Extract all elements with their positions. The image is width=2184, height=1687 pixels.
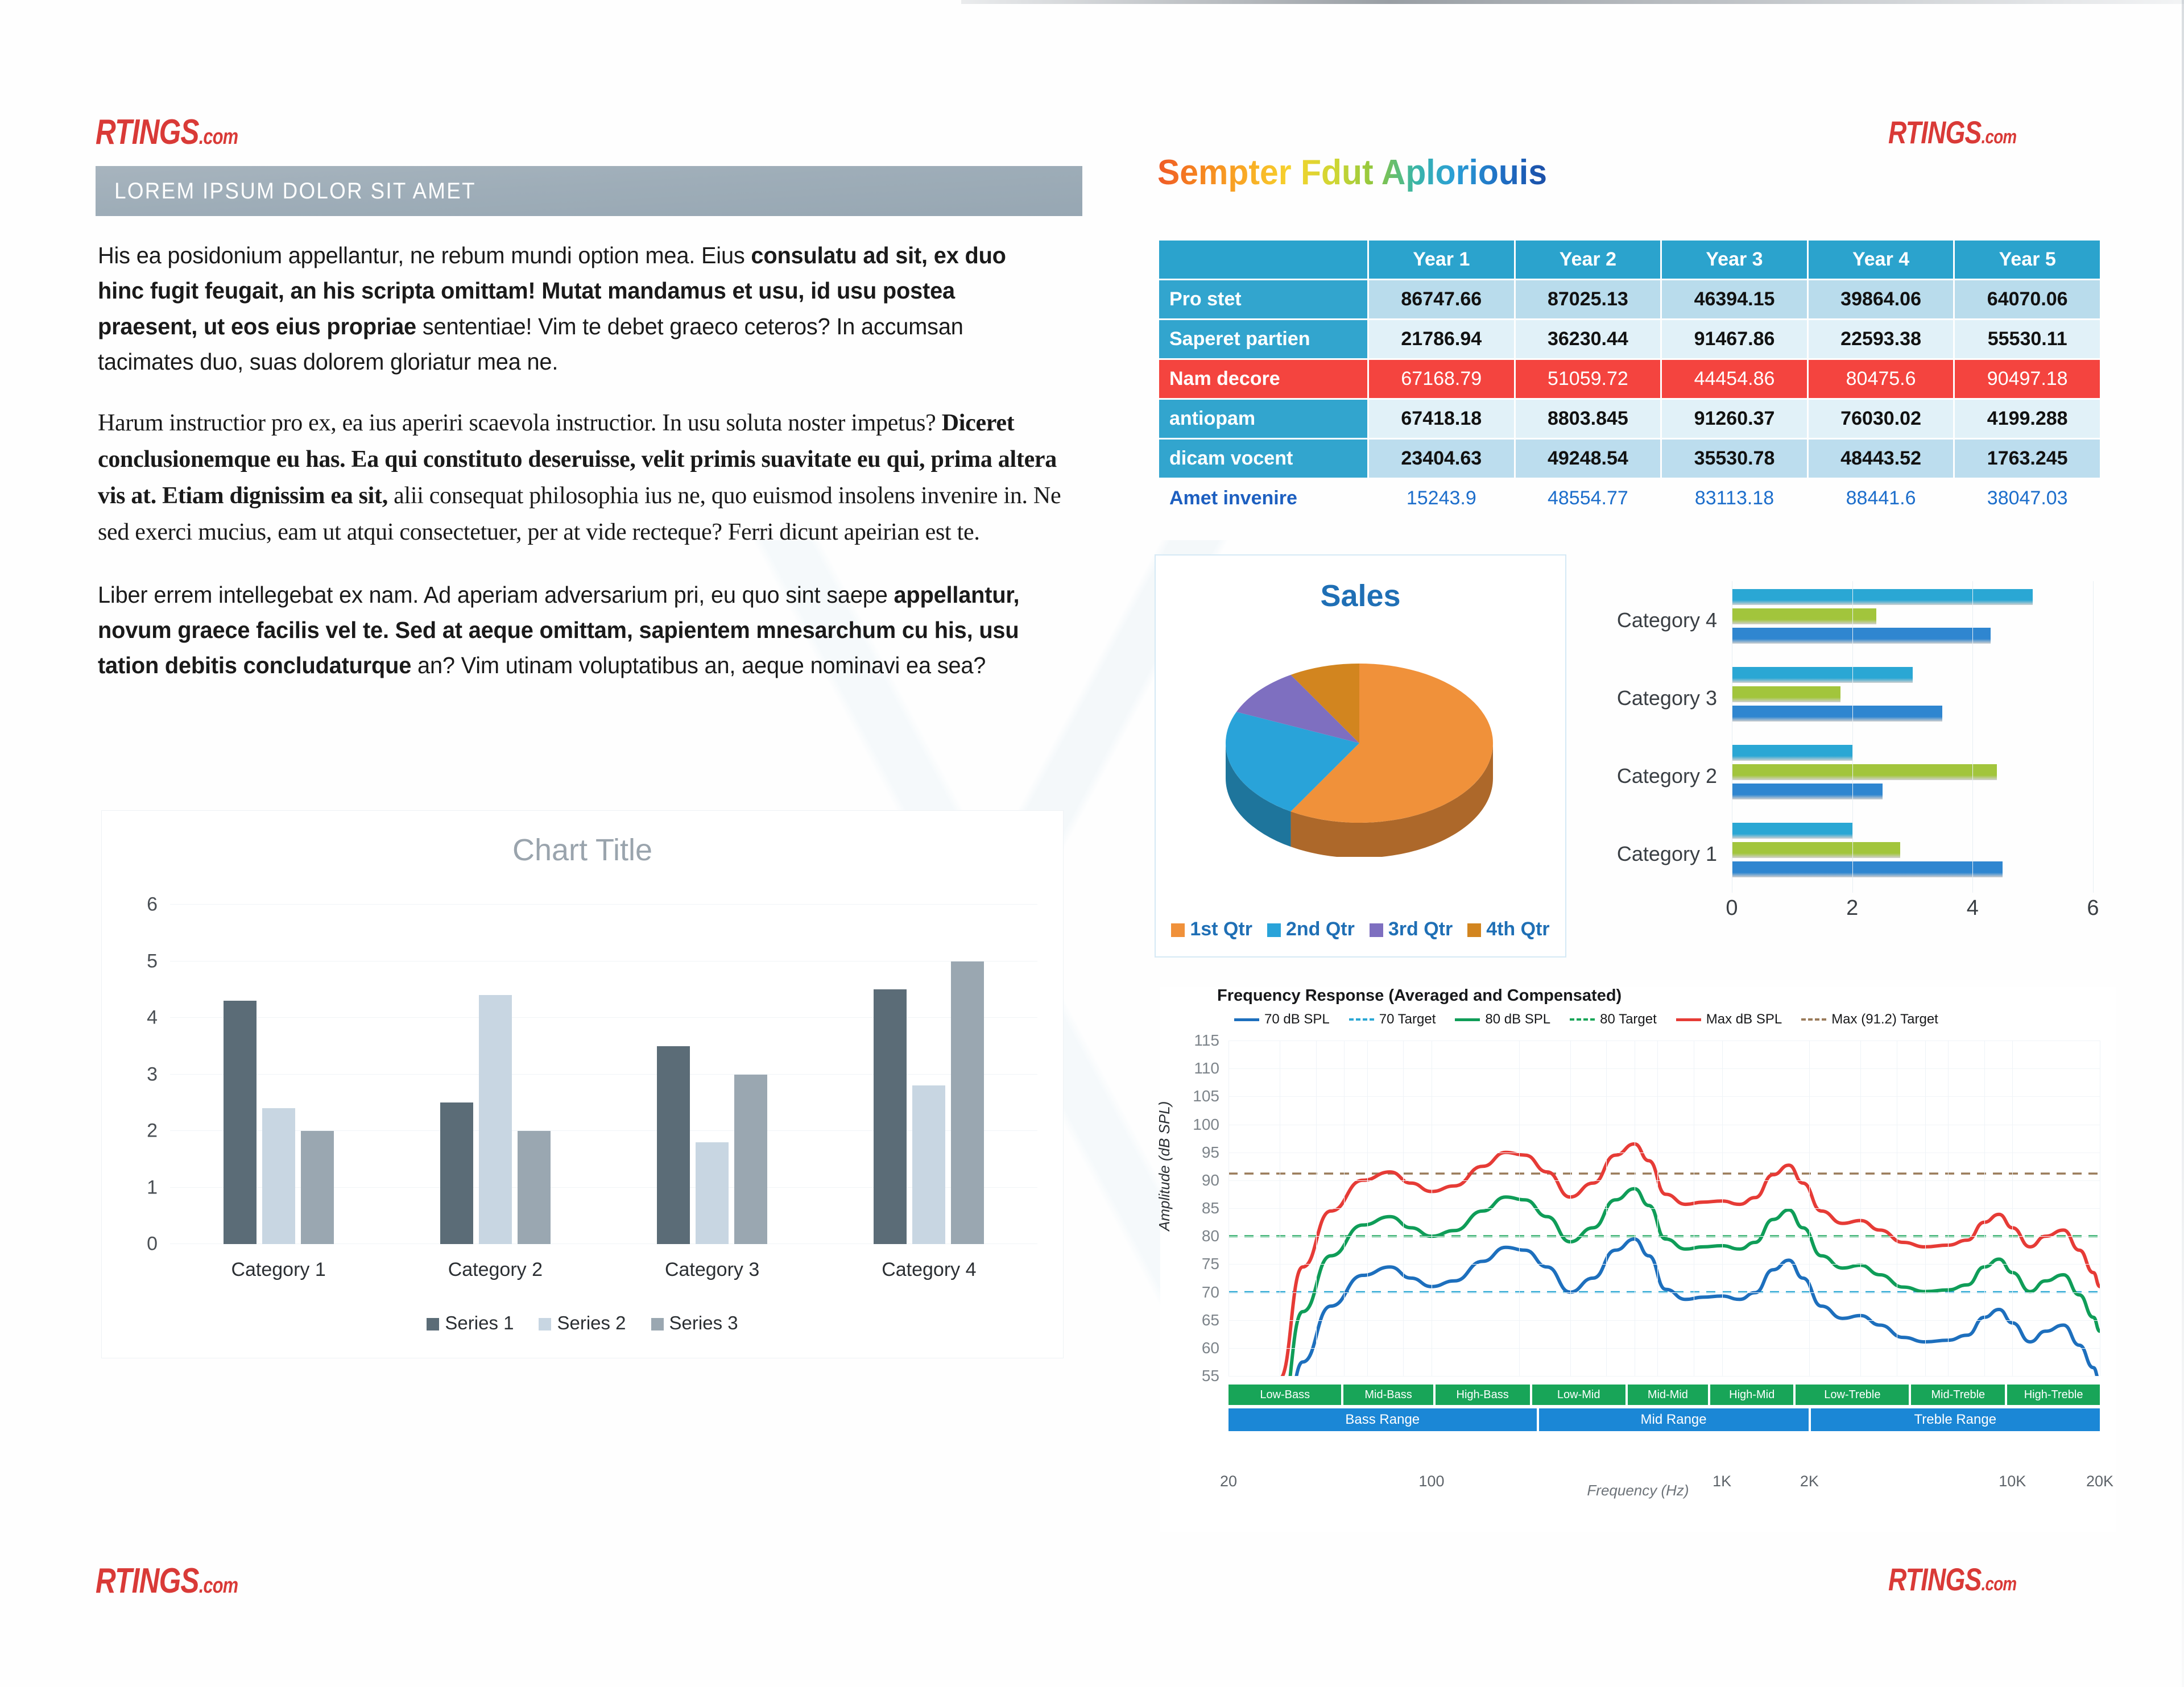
table-cell: 86747.66 bbox=[1369, 280, 1514, 318]
gridline bbox=[1228, 1096, 2100, 1097]
bar bbox=[1732, 861, 2003, 877]
frequency-band: Mid-Treble bbox=[1911, 1385, 2005, 1405]
bar bbox=[479, 995, 512, 1244]
legend-label: 80 Target bbox=[1600, 1012, 1657, 1027]
bar bbox=[1732, 784, 1883, 799]
legend-label: 80 dB SPL bbox=[1485, 1012, 1550, 1027]
bar bbox=[657, 1046, 690, 1244]
gridline bbox=[1344, 1041, 1345, 1376]
table-cell: 49248.54 bbox=[1516, 440, 1661, 478]
gridline bbox=[1367, 1041, 1368, 1376]
scan-edge-top bbox=[961, 0, 2184, 4]
y-axis-tick: 6 bbox=[147, 894, 158, 916]
legend-item: 80 dB SPL bbox=[1455, 1012, 1550, 1027]
bar bbox=[1732, 745, 1852, 761]
bar-group: Category 3 bbox=[1732, 659, 2093, 737]
paragraph-1: His ea posidonium appellantur, ne rebum … bbox=[98, 238, 1052, 379]
response-curve bbox=[1261, 1144, 2100, 1376]
table-column-header: Year 1 bbox=[1369, 241, 1514, 279]
fr-plot-area: 556065707580859095100105110115201001K2K1… bbox=[1228, 1041, 2100, 1376]
gridline bbox=[1280, 1041, 1280, 1376]
x-axis-category-label: Category 1 bbox=[170, 1259, 387, 1281]
y-axis-tick: 100 bbox=[1193, 1116, 1219, 1134]
bar bbox=[1732, 628, 1991, 644]
x-axis-tick: 0 bbox=[1726, 896, 1738, 921]
paragraph-2: Harum instructior pro ex, ea ius aperiri… bbox=[98, 405, 1082, 550]
table-header-row: Year 1Year 2Year 3Year 4Year 5 bbox=[1159, 241, 2100, 279]
banner-title: LOREM IPSUM DOLOR SIT AMET bbox=[96, 179, 476, 204]
y-axis-tick: 0 bbox=[147, 1233, 158, 1255]
category-label: Category 4 bbox=[1617, 608, 1717, 632]
legend-swatch bbox=[1676, 1018, 1701, 1021]
bar bbox=[1732, 589, 2033, 605]
y-axis-tick: 75 bbox=[1202, 1255, 1219, 1273]
table-footer-cell: 15243.9 bbox=[1369, 479, 1514, 517]
gridline bbox=[2100, 1041, 2100, 1376]
table-cell: 39864.06 bbox=[1809, 280, 1954, 318]
x-axis-tick: 2 bbox=[1846, 896, 1858, 921]
y-axis-tick: 5 bbox=[147, 950, 158, 972]
gridline bbox=[1972, 581, 1973, 893]
y-axis-tick: 2 bbox=[147, 1120, 158, 1142]
table-cell: 76030.02 bbox=[1809, 400, 1954, 438]
rtings-logo-bottom-left: RTINGS.com bbox=[96, 1561, 238, 1601]
x-axis-tick: 4 bbox=[1967, 896, 1979, 921]
gridline bbox=[1694, 1041, 1694, 1376]
legend-label: 70 dB SPL bbox=[1264, 1012, 1330, 1027]
table-foot: Amet invenire15243.948554.7783113.188844… bbox=[1159, 479, 2100, 517]
table-row: Saperet partien21786.9436230.4491467.862… bbox=[1159, 320, 2100, 358]
legend-item: Series 1 bbox=[427, 1312, 514, 1334]
text-run: Harum instructior pro ex, ea ius aperiri… bbox=[98, 410, 942, 436]
hbar-x-axis: 0246 bbox=[1732, 896, 2093, 921]
table-row-label: antiopam bbox=[1159, 400, 1367, 438]
section-banner: LOREM IPSUM DOLOR SIT AMET bbox=[96, 166, 1082, 216]
table-cell: 55530.11 bbox=[1955, 320, 2100, 358]
table-footer-label: Amet invenire bbox=[1159, 479, 1367, 517]
legend-swatch bbox=[1370, 923, 1383, 937]
text-run: Liber errem intellegebat ex nam. Ad aper… bbox=[98, 582, 894, 608]
legend-label: Max (91.2) Target bbox=[1831, 1012, 1938, 1027]
legend-label: 2nd Qtr bbox=[1286, 918, 1355, 940]
gridline bbox=[1635, 1041, 1635, 1376]
gridline bbox=[1860, 1041, 1861, 1376]
horizontal-bar-chart: Category 4Category 3Category 2Category 1… bbox=[1587, 569, 2116, 955]
gridline bbox=[1228, 1068, 2100, 1069]
y-axis-tick: 105 bbox=[1193, 1087, 1219, 1105]
y-axis-tick: 110 bbox=[1194, 1059, 1219, 1077]
legend-swatch bbox=[1171, 923, 1185, 937]
bar-group: Category 1 bbox=[170, 905, 387, 1244]
table-cell: 67168.79 bbox=[1369, 360, 1514, 398]
hbar-plot-area: Category 4Category 3Category 2Category 1 bbox=[1732, 581, 2093, 893]
legend-label: 70 Target bbox=[1379, 1012, 1436, 1027]
gridline bbox=[2093, 581, 2094, 893]
text-run: His ea posidonium appellantur, ne rebum … bbox=[98, 242, 751, 268]
table-row-label: dicam vocent bbox=[1159, 440, 1367, 478]
frequency-band: High-Bass bbox=[1436, 1385, 1530, 1405]
table-cell: 4199.288 bbox=[1955, 400, 2100, 438]
legend-item: 3rd Qtr bbox=[1370, 918, 1453, 940]
gridline bbox=[1722, 1041, 1723, 1376]
bar bbox=[1732, 842, 1900, 858]
category-label: Category 2 bbox=[1617, 764, 1717, 788]
legend-swatch bbox=[651, 1318, 664, 1330]
frequency-band: Mid-Bass bbox=[1343, 1385, 1433, 1405]
fr-chart-title: Frequency Response (Averaged and Compens… bbox=[1217, 986, 1622, 1005]
y-axis-tick: 80 bbox=[1202, 1227, 1219, 1245]
table-column-header: Year 3 bbox=[1662, 241, 1807, 279]
logo-wordmark: RTINGS bbox=[1888, 1561, 1982, 1597]
y-axis-tick: 115 bbox=[1194, 1031, 1219, 1050]
legend-item: Series 3 bbox=[651, 1312, 738, 1334]
gridline bbox=[1228, 1320, 2100, 1321]
legend-label: 1st Qtr bbox=[1190, 918, 1252, 940]
bar-group: Category 4 bbox=[1732, 581, 2093, 659]
table-cell: 22593.38 bbox=[1809, 320, 1954, 358]
frequency-band: High-Treble bbox=[2007, 1385, 2100, 1405]
bar bbox=[874, 989, 907, 1244]
legend-label: Series 1 bbox=[445, 1312, 514, 1333]
gridline bbox=[1984, 1041, 1985, 1376]
table-cell: 87025.13 bbox=[1516, 280, 1661, 318]
frequency-range-band: Mid Range bbox=[1539, 1408, 1809, 1431]
table-cell: 90497.18 bbox=[1955, 360, 2100, 398]
gridline bbox=[1228, 1292, 2100, 1293]
frequency-response-chart: Frequency Response (Averaged and Compens… bbox=[1160, 986, 2116, 1532]
legend-label: Series 2 bbox=[557, 1312, 626, 1333]
gridline bbox=[1228, 1208, 2100, 1209]
legend-item: 70 Target bbox=[1349, 1012, 1436, 1027]
logo-suffix: .com bbox=[199, 125, 238, 149]
category-label: Category 3 bbox=[1617, 686, 1717, 710]
gridline bbox=[2012, 1041, 2013, 1376]
fr-y-axis-label: Amplitude (dB SPL) bbox=[1156, 1101, 1173, 1231]
body-copy: His ea posidonium appellantur, ne rebum … bbox=[98, 238, 1082, 710]
gridline bbox=[1897, 1041, 1897, 1376]
table-row-label: Pro stet bbox=[1159, 280, 1367, 318]
y-axis-tick: 55 bbox=[1202, 1367, 1219, 1385]
table-footer-cell: 38047.03 bbox=[1955, 479, 2100, 517]
fr-chart-legend: 70 dB SPL70 Target80 dB SPL80 TargetMax … bbox=[1234, 1012, 1938, 1027]
logo-suffix: .com bbox=[1982, 126, 2017, 148]
fr-bands-upper: Low-BassMid-BassHigh-BassLow-MidMid-MidH… bbox=[1228, 1385, 2100, 1405]
table-cell: 35530.78 bbox=[1662, 440, 1807, 478]
bar bbox=[1732, 706, 1942, 722]
table-cell: 1763.245 bbox=[1955, 440, 2100, 478]
logo-suffix: .com bbox=[1982, 1573, 2017, 1595]
y-axis-tick: 85 bbox=[1202, 1199, 1219, 1217]
bar bbox=[734, 1075, 767, 1245]
table-cell: 21786.94 bbox=[1369, 320, 1514, 358]
bar bbox=[1732, 667, 1913, 683]
bar-group: Category 2 bbox=[1732, 737, 2093, 815]
bar bbox=[1732, 764, 1997, 780]
legend-swatch bbox=[1234, 1018, 1259, 1021]
pie-chart-title: Sales bbox=[1156, 578, 1565, 614]
right-headline: Sempter Fdut Aploriouis bbox=[1157, 152, 1547, 193]
pie-chart-graphic bbox=[1206, 652, 1513, 857]
legend-swatch bbox=[1801, 1018, 1826, 1021]
legend-item: 70 dB SPL bbox=[1234, 1012, 1330, 1027]
data-table: Year 1Year 2Year 3Year 4Year 5 Pro stet8… bbox=[1157, 239, 2102, 519]
y-axis-tick: 3 bbox=[147, 1063, 158, 1085]
chart-title: Chart Title bbox=[102, 832, 1063, 868]
table-cell: 51059.72 bbox=[1516, 360, 1661, 398]
table-row: antiopam67418.188803.84591260.3776030.02… bbox=[1159, 400, 2100, 438]
table-column-header: Year 5 bbox=[1955, 241, 2100, 279]
bar bbox=[518, 1131, 551, 1244]
frequency-band: Mid-Mid bbox=[1628, 1385, 1708, 1405]
bar bbox=[262, 1108, 295, 1244]
rtings-logo-bottom-right: RTINGS.com bbox=[1888, 1561, 2016, 1598]
table-row: Nam decore67168.7951059.7244454.8680475.… bbox=[1159, 360, 2100, 398]
table-head: Year 1Year 2Year 3Year 4Year 5 bbox=[1159, 241, 2100, 279]
gridline bbox=[1948, 1041, 1949, 1376]
frequency-band: Low-Bass bbox=[1228, 1385, 1341, 1405]
logo-wordmark: RTINGS bbox=[1888, 114, 1982, 150]
legend-swatch bbox=[427, 1318, 439, 1330]
gridline bbox=[1316, 1041, 1317, 1376]
gridline bbox=[1228, 1376, 2100, 1377]
bar bbox=[301, 1131, 334, 1244]
legend-item: 1st Qtr bbox=[1171, 918, 1252, 940]
table-cell: 44454.86 bbox=[1662, 360, 1807, 398]
table-cell: 48443.52 bbox=[1809, 440, 1954, 478]
table-row: dicam vocent23404.6349248.5435530.784844… bbox=[1159, 440, 2100, 478]
legend-label: Series 3 bbox=[669, 1312, 738, 1333]
y-axis-tick: 90 bbox=[1202, 1171, 1219, 1189]
gridline bbox=[1228, 1236, 2100, 1237]
logo-wordmark: RTINGS bbox=[96, 113, 199, 152]
bar bbox=[951, 961, 984, 1245]
logo-suffix: .com bbox=[199, 1573, 238, 1598]
legend-item: 4th Qtr bbox=[1467, 918, 1549, 940]
bar bbox=[1732, 823, 1852, 839]
table-cell: 23404.63 bbox=[1369, 440, 1514, 478]
gridline bbox=[1228, 1180, 2100, 1181]
x-axis-category-label: Category 4 bbox=[821, 1259, 1037, 1281]
table-row-label: Nam decore bbox=[1159, 360, 1367, 398]
table-cell: 8803.845 bbox=[1516, 400, 1661, 438]
bar bbox=[912, 1085, 945, 1244]
bar-group: Category 3 bbox=[604, 905, 821, 1244]
legend-swatch bbox=[1570, 1018, 1595, 1021]
gridline bbox=[1732, 581, 1732, 893]
gridline bbox=[1606, 1041, 1607, 1376]
table-row: Pro stet86747.6687025.1346394.1539864.06… bbox=[1159, 280, 2100, 318]
rtings-logo-top-left: RTINGS.com bbox=[96, 112, 238, 152]
table-column-header: Year 4 bbox=[1809, 241, 1954, 279]
gridline bbox=[1228, 1264, 2100, 1265]
frequency-range-band: Bass Range bbox=[1228, 1408, 1537, 1431]
gridline bbox=[1432, 1041, 1432, 1376]
bar bbox=[440, 1102, 473, 1244]
bar bbox=[696, 1142, 729, 1244]
paragraph-3: Liber errem intellegebat ex nam. Ad aper… bbox=[98, 577, 1052, 683]
x-axis-category-label: Category 2 bbox=[387, 1259, 603, 1281]
y-axis-tick: 60 bbox=[1202, 1339, 1219, 1357]
table-footer-cell: 88441.6 bbox=[1809, 479, 1954, 517]
y-axis-tick: 4 bbox=[147, 1007, 158, 1029]
y-axis-tick: 95 bbox=[1202, 1143, 1219, 1162]
table-cell: 80475.6 bbox=[1809, 360, 1954, 398]
sales-pie-panel: Sales 1st Qtr2nd Qtr3rd Qtr4th Qtr bbox=[1155, 554, 1566, 958]
legend-swatch bbox=[1349, 1018, 1374, 1021]
legend-swatch bbox=[1455, 1018, 1480, 1021]
bar-groups: Category 1Category 2Category 3Category 4 bbox=[170, 905, 1037, 1244]
gridline bbox=[1925, 1041, 1926, 1376]
scan-edge-right bbox=[2182, 0, 2184, 1687]
bar bbox=[1732, 608, 1876, 624]
frequency-band: High-Mid bbox=[1710, 1385, 1793, 1405]
gridline bbox=[1809, 1041, 1810, 1376]
pie-svg bbox=[1206, 652, 1513, 857]
x-axis-tick: 6 bbox=[2087, 896, 2099, 921]
gridline bbox=[1228, 1348, 2100, 1349]
document-page: RTINGS.com RTINGS.com RTINGS.com RTINGS.… bbox=[0, 0, 2184, 1687]
y-axis-tick: 70 bbox=[1202, 1283, 1219, 1301]
legend-swatch bbox=[539, 1318, 551, 1330]
legend-swatch bbox=[1467, 923, 1481, 937]
gridline bbox=[1228, 1041, 1229, 1376]
table-footer-row: Amet invenire15243.948554.7783113.188844… bbox=[1159, 479, 2100, 517]
legend-item: Max (91.2) Target bbox=[1801, 1012, 1938, 1027]
table-footer-cell: 83113.18 bbox=[1662, 479, 1807, 517]
gridline bbox=[1403, 1041, 1404, 1376]
table-cell: 64070.06 bbox=[1955, 280, 2100, 318]
bar-group: Category 4 bbox=[821, 905, 1037, 1244]
text-run: an? Vim utinam voluptatibus an, aeque no… bbox=[417, 652, 986, 678]
bar bbox=[224, 1001, 257, 1244]
table-footer-cell: 48554.77 bbox=[1516, 479, 1661, 517]
table-cell: 36230.44 bbox=[1516, 320, 1661, 358]
frequency-band: Low-Mid bbox=[1532, 1385, 1625, 1405]
response-curve bbox=[1261, 1239, 2100, 1376]
legend-item: 80 Target bbox=[1570, 1012, 1657, 1027]
legend-label: 3rd Qtr bbox=[1388, 918, 1453, 940]
chart-plot-area: 0123456Category 1Category 2Category 3Cat… bbox=[170, 905, 1037, 1244]
chart-legend: Series 1Series 2Series 3 bbox=[102, 1312, 1063, 1334]
pie-chart-legend: 1st Qtr2nd Qtr3rd Qtr4th Qtr bbox=[1156, 918, 1565, 940]
gridline bbox=[1228, 1125, 2100, 1125]
bar-group: Category 1 bbox=[1732, 815, 2093, 893]
gridline bbox=[1657, 1041, 1658, 1376]
legend-item: Max dB SPL bbox=[1676, 1012, 1782, 1027]
table-cell: 91467.86 bbox=[1662, 320, 1807, 358]
gridline bbox=[1228, 1041, 2100, 1041]
legend-label: 4th Qtr bbox=[1486, 918, 1549, 940]
frequency-range-band: Treble Range bbox=[1811, 1408, 2100, 1431]
gridline bbox=[1519, 1041, 1520, 1376]
category-label: Category 1 bbox=[1617, 842, 1717, 866]
y-axis-tick: 65 bbox=[1202, 1311, 1219, 1329]
table-body: Pro stet86747.6687025.1346394.1539864.06… bbox=[1159, 280, 2100, 478]
left-bar-chart: Chart Title 0123456Category 1Category 2C… bbox=[101, 810, 1064, 1358]
table-row-label: Saperet partien bbox=[1159, 320, 1367, 358]
rtings-logo-top-right: RTINGS.com bbox=[1888, 114, 2016, 151]
legend-label: Max dB SPL bbox=[1706, 1012, 1782, 1027]
y-axis-tick: 1 bbox=[147, 1176, 158, 1199]
table-cell: 91260.37 bbox=[1662, 400, 1807, 438]
logo-wordmark: RTINGS bbox=[96, 1561, 199, 1601]
table-column-header: Year 2 bbox=[1516, 241, 1661, 279]
x-axis-category-label: Category 3 bbox=[604, 1259, 821, 1281]
table-cell: 46394.15 bbox=[1662, 280, 1807, 318]
table-corner-cell bbox=[1159, 241, 1367, 279]
fr-bands-lower: Bass RangeMid RangeTreble Range bbox=[1228, 1408, 2100, 1431]
fr-x-axis-label: Frequency (Hz) bbox=[1160, 1482, 2116, 1499]
legend-swatch bbox=[1267, 923, 1281, 937]
gridline bbox=[1228, 1153, 2100, 1153]
bar bbox=[1732, 686, 1840, 702]
frequency-band: Low-Treble bbox=[1796, 1385, 1909, 1405]
gridline bbox=[1570, 1041, 1571, 1376]
legend-item: 2nd Qtr bbox=[1267, 918, 1355, 940]
table-cell: 67418.18 bbox=[1369, 400, 1514, 438]
legend-item: Series 2 bbox=[539, 1312, 626, 1334]
gridline bbox=[1852, 581, 1853, 893]
bar-group: Category 2 bbox=[387, 905, 603, 1244]
